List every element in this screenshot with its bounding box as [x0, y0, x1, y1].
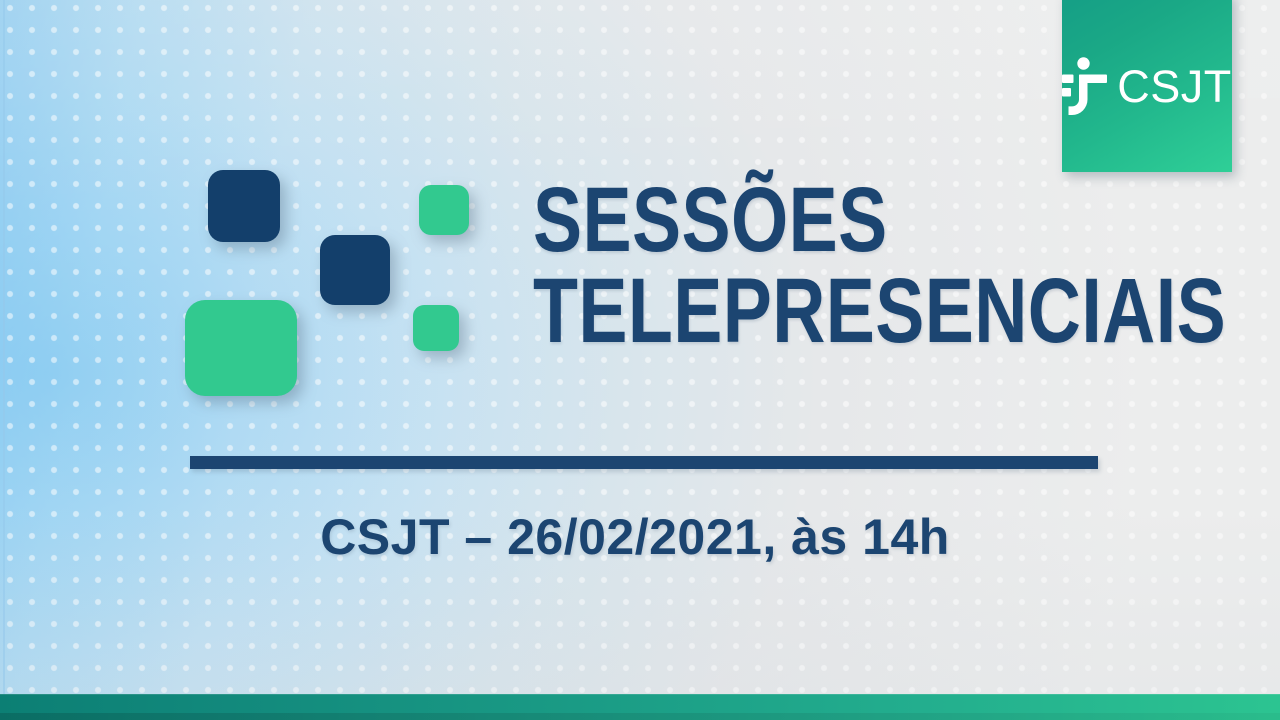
- page-title-line-1: SESSÕES: [533, 169, 888, 271]
- event-subtitle: CSJT – 26/02/2021, às 14h: [0, 508, 1280, 566]
- square-green-small-top: [419, 185, 469, 235]
- bottom-accent-bar-shade: [0, 713, 1280, 720]
- title-divider-rule: [190, 456, 1098, 469]
- slide-canvas: SESSÕES TELEPRESENCIAIS CSJT – 26/02/202…: [0, 0, 1280, 720]
- page-title: SESSÕES TELEPRESENCIAIS: [533, 175, 1226, 357]
- square-green-large-bottom: [185, 300, 297, 396]
- bottom-accent-bar: [0, 694, 1280, 720]
- square-navy-large-top: [208, 170, 280, 242]
- csjt-logo-block: CSJT: [1062, 0, 1232, 172]
- page-title-line-2: TELEPRESENCIAIS: [533, 266, 1226, 357]
- square-navy-middle: [320, 235, 390, 305]
- left-edge-rule: [3, 0, 5, 720]
- csjt-wordmark: CSJT: [1117, 64, 1232, 109]
- square-green-small-bottom: [413, 305, 459, 351]
- csjt-running-figure-icon: [1062, 57, 1108, 115]
- csjt-logo-lockup: CSJT: [1062, 57, 1232, 115]
